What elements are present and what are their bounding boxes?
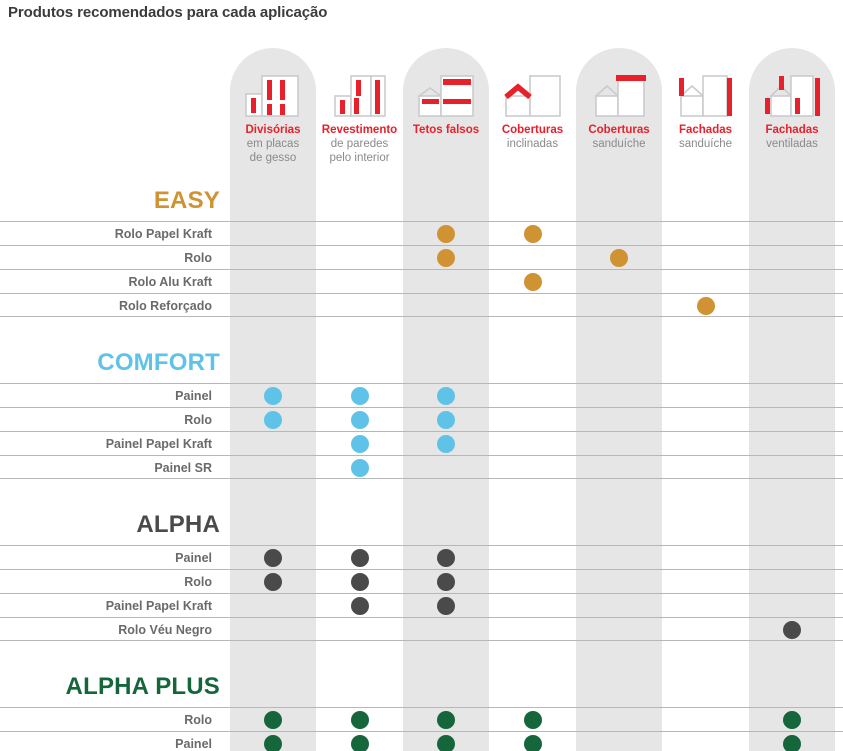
section-title-alpha: ALPHA [0,505,228,545]
table-row[interactable]: Rolo [0,407,843,431]
column-header-7[interactable]: Fachadasventiladas [749,48,835,181]
mark-dot [264,573,282,591]
row-label: Rolo [0,570,220,594]
column-subtitle-5-1: sanduíche [592,137,645,151]
mark-dot [264,549,282,567]
pitched-roof-icon [502,70,564,124]
sandwich-facade-icon [675,70,737,124]
mark-dot [783,621,801,639]
column-subtitle-2-1: de paredes [331,137,389,151]
table-row[interactable]: Painel [0,545,843,569]
mark-dot [351,411,369,429]
section-title-comfort: COMFORT [0,343,228,383]
mark-dot [351,735,369,751]
row-label: Painel SR [0,456,220,480]
column-header-2[interactable]: Revestimentode paredespelo interior [317,48,403,181]
table-row[interactable]: Rolo Alu Kraft [0,269,843,293]
column-subtitle-1-2: de gesso [250,151,297,165]
row-label: Rolo Reforçado [0,294,220,318]
section-alpha-plus: ALPHA PLUSRoloPainelPainel Papel Kraft [0,667,843,751]
table-row[interactable]: Rolo Véu Negro [0,617,843,641]
table-row[interactable]: Painel Papel Kraft [0,593,843,617]
column-subtitle-1-1: em placas [247,137,299,151]
mark-dot [264,711,282,729]
partition-wall-icon [242,70,304,124]
section-spacer [0,641,843,667]
table-row[interactable]: Rolo [0,245,843,269]
row-label: Rolo [0,708,220,732]
interior-wall-lining-icon [329,70,391,124]
false-ceiling-icon [415,70,477,124]
mark-dot [437,435,455,453]
mark-dot [351,573,369,591]
column-subtitle-4-1: inclinadas [507,137,558,151]
row-label: Painel Papel Kraft [0,432,220,456]
sandwich-roof-icon [588,70,650,124]
section-spacer [0,479,843,505]
mark-dot [783,711,801,729]
mark-dot [437,711,455,729]
mark-dot [524,273,542,291]
row-label: Painel [0,732,220,751]
mark-dot [264,411,282,429]
mark-dot [437,549,455,567]
mark-dot [437,597,455,615]
table-row[interactable]: Painel [0,383,843,407]
section-alpha: ALPHAPainelRoloPainel Papel KraftRolo Vé… [0,505,843,667]
table-row[interactable]: Rolo Reforçado [0,293,843,317]
row-label: Painel Papel Kraft [0,594,220,618]
column-header-3[interactable]: Tetos falsos [403,48,489,181]
mark-dot [351,387,369,405]
mark-dot [351,711,369,729]
matrix-body: EASYRolo Papel KraftRoloRolo Alu KraftRo… [0,181,843,751]
page-title: Produtos recomendados para cada aplicaçã… [8,4,327,21]
mark-dot [437,411,455,429]
mark-dot [351,597,369,615]
table-row[interactable]: Rolo Papel Kraft [0,221,843,245]
column-subtitle-7-1: ventiladas [766,137,818,151]
column-header-4[interactable]: Coberturasinclinadas [490,48,576,181]
section-easy: EASYRolo Papel KraftRoloRolo Alu KraftRo… [0,181,843,343]
mark-dot [524,711,542,729]
column-subtitle-2-2: pelo interior [329,151,389,165]
section-comfort: COMFORTPainelRoloPainel Papel KraftPaine… [0,343,843,505]
section-title-easy: EASY [0,181,228,221]
table-row[interactable]: Painel Papel Kraft [0,431,843,455]
mark-dot [610,249,628,267]
row-label: Rolo Alu Kraft [0,270,220,294]
mark-dot [437,735,455,751]
column-title-1: Divisórias [246,124,301,137]
column-title-7: Fachadas [765,124,818,137]
mark-dot [524,225,542,243]
column-title-4: Coberturas [502,124,563,137]
column-title-5: Coberturas [588,124,649,137]
table-row[interactable]: Rolo [0,569,843,593]
row-label: Painel [0,546,220,570]
mark-dot [351,459,369,477]
table-row[interactable]: Painel [0,731,843,751]
section-spacer [0,317,843,343]
column-title-2: Revestimento [322,124,397,137]
mark-dot [437,249,455,267]
mark-dot [697,297,715,315]
column-title-3: Tetos falsos [413,124,479,137]
ventilated-facade-icon [761,70,823,124]
table-row[interactable]: Painel SR [0,455,843,479]
mark-dot [437,225,455,243]
column-header-1[interactable]: Divisóriasem placasde gesso [230,48,316,181]
column-title-6: Fachadas [679,124,732,137]
recommendation-matrix-page: Produtos recomendados para cada aplicaçã… [0,0,843,751]
table-row[interactable]: Rolo [0,707,843,731]
row-label: Painel [0,384,220,408]
column-header-5[interactable]: Coberturassanduíche [576,48,662,181]
mark-dot [524,735,542,751]
mark-dot [351,549,369,567]
row-label: Rolo [0,246,220,270]
row-label: Rolo [0,408,220,432]
section-title-alpha-plus: ALPHA PLUS [0,667,228,707]
mark-dot [437,387,455,405]
row-label: Rolo Papel Kraft [0,222,220,246]
mark-dot [351,435,369,453]
mark-dot [437,573,455,591]
mark-dot [783,735,801,751]
column-subtitle-6-1: sanduíche [679,137,732,151]
row-label: Rolo Véu Negro [0,618,220,642]
mark-dot [264,735,282,751]
mark-dot [264,387,282,405]
column-header-6[interactable]: Fachadassanduíche [663,48,749,181]
